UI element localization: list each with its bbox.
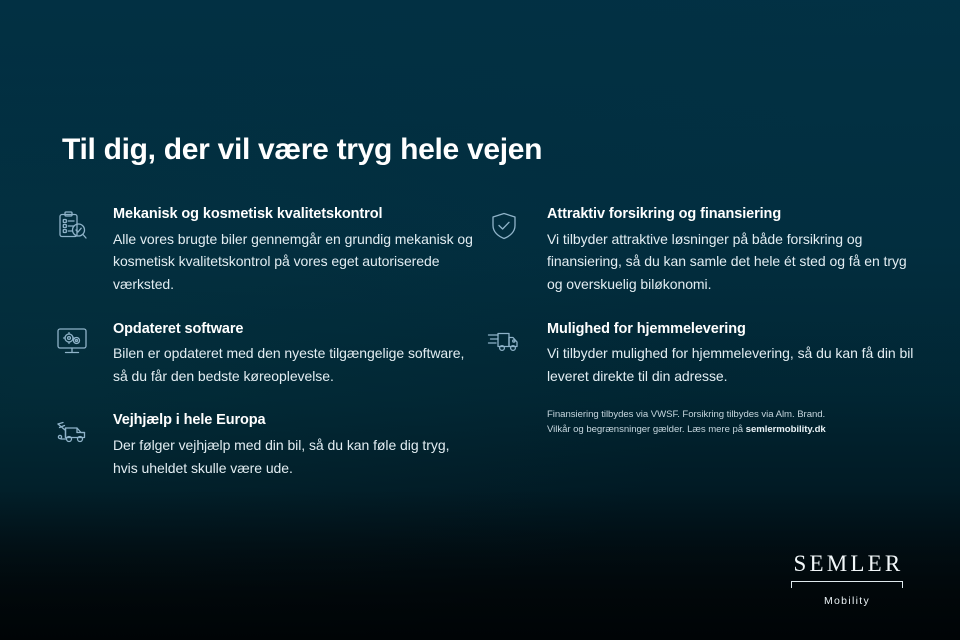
fineprint-line-2: Vilkår og begrænsninger gælder. Læs mere… (547, 423, 887, 438)
feature-body: Attraktiv forsikring og finansiering Vi … (547, 205, 917, 296)
logo-bracket-rule (788, 581, 906, 590)
feature-body: Opdateret software Bilen er opdateret me… (113, 320, 475, 388)
feature-title: Mulighed for hjemmelevering (547, 320, 917, 340)
fineprint-line-2-text: Vilkår og begrænsninger gælder. Læs mere… (547, 424, 746, 435)
monitor-gears-icon (55, 320, 113, 358)
feature-description: Bilen er opdateret med den nyeste tilgæn… (113, 342, 475, 387)
semler-mobility-logo: SEMLER Mobility (788, 552, 906, 607)
feature-title: Mekanisk og kosmetisk kvalitetskontrol (113, 205, 475, 225)
clipboard-check-magnifier-icon (55, 205, 113, 243)
feature-item: Mekanisk og kosmetisk kvalitetskontrol A… (55, 205, 475, 296)
feature-body: Vejhjælp i hele Europa Der følger vejhjæ… (113, 411, 475, 479)
feature-item: Vejhjælp i hele Europa Der følger vejhjæ… (55, 411, 475, 479)
logo-wordmark: SEMLER (788, 552, 906, 575)
feature-item: Opdateret software Bilen er opdateret me… (55, 320, 475, 388)
semlermobility-link[interactable]: semlermobility.dk (746, 424, 826, 435)
feature-item: Attraktiv forsikring og finansiering Vi … (487, 205, 917, 296)
feature-description: Der følger vejhjælp med din bil, så du k… (113, 434, 475, 479)
page-title: Til dig, der vil være tryg hele vejen (62, 133, 542, 167)
feature-description: Alle vores brugte biler gennemgår en gru… (113, 228, 475, 296)
legal-fineprint: Finansiering tilbydes via VWSF. Forsikri… (547, 408, 887, 438)
logo-subtitle: Mobility (788, 595, 906, 607)
feature-description: Vi tilbyder mulighed for hjemmelevering,… (547, 342, 917, 387)
feature-body: Mulighed for hjemmelevering Vi tilbyder … (547, 320, 917, 388)
feature-item: Mulighed for hjemmelevering Vi tilbyder … (487, 320, 917, 388)
promo-slide: Til dig, der vil være tryg hele vejen (0, 0, 960, 640)
fineprint-line-1: Finansiering tilbydes via VWSF. Forsikri… (547, 408, 887, 423)
feature-description: Vi tilbyder attraktive løsninger på både… (547, 228, 917, 296)
shield-check-icon (487, 205, 547, 243)
feature-body: Mekanisk og kosmetisk kvalitetskontrol A… (113, 205, 475, 296)
feature-title: Vejhjælp i hele Europa (113, 411, 475, 431)
tow-truck-icon (55, 411, 113, 449)
delivery-truck-icon (487, 320, 547, 358)
features-column-left: Mekanisk og kosmetisk kvalitetskontrol A… (55, 205, 475, 503)
feature-title: Opdateret software (113, 320, 475, 340)
feature-title: Attraktiv forsikring og finansiering (547, 205, 917, 225)
features-column-right: Attraktiv forsikring og finansiering Vi … (487, 205, 917, 411)
